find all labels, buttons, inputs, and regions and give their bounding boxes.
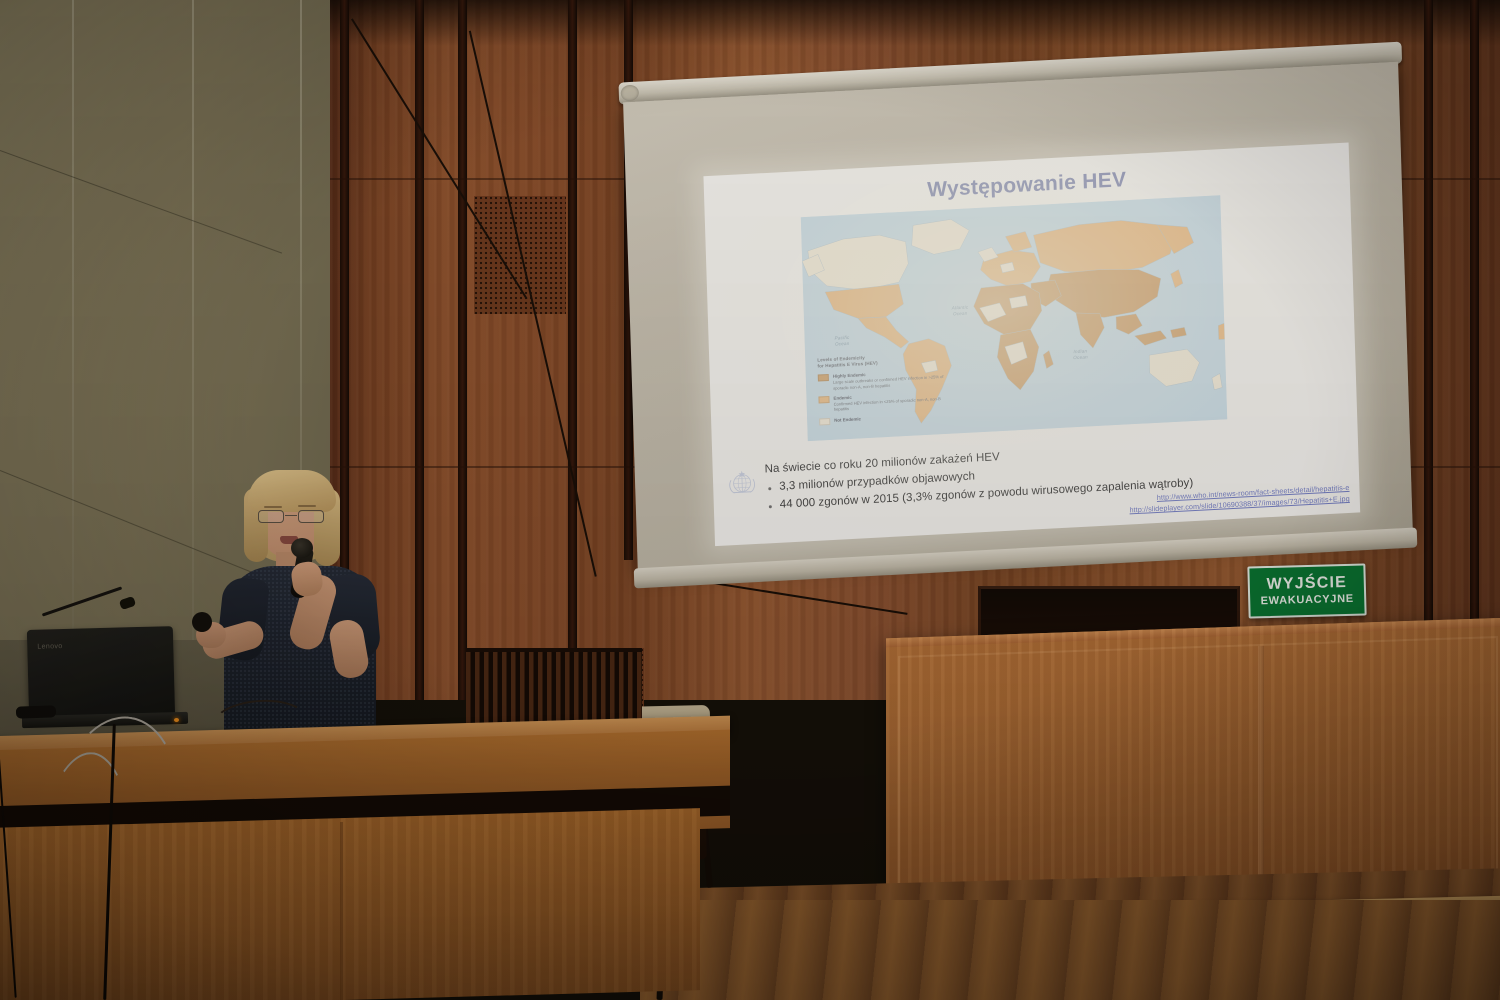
legend-item: Not Endemic bbox=[819, 412, 947, 426]
world-map-endemicity: PacificOcean AtlanticOcean IndianOcean L… bbox=[801, 195, 1227, 441]
ocean-label-pacific: PacificOcean bbox=[835, 335, 850, 347]
presenter-eyebrow-right bbox=[298, 505, 316, 507]
microphone-base bbox=[16, 705, 56, 718]
parquet-floor bbox=[640, 900, 1500, 1000]
wall-trim-strip bbox=[415, 0, 424, 700]
lecture-hall-photo: WYJŚCIE EWAKUACYJNE Występowanie HEV bbox=[0, 0, 1500, 1000]
legend-swatch-highly-endemic bbox=[818, 374, 829, 382]
screen-roller-cap bbox=[621, 85, 639, 102]
presenter-hair-front bbox=[248, 470, 336, 512]
legend-swatch-endemic bbox=[818, 396, 829, 404]
screen-fabric: Występowanie HEV bbox=[623, 62, 1413, 570]
exit-sign-line2: EWAKUACYJNE bbox=[1260, 594, 1354, 607]
laptop-brand-logo: Lenovo bbox=[37, 643, 63, 651]
ocean-label-indian: IndianOcean bbox=[1073, 348, 1088, 360]
legend-item: Endemic Confirmed HEV infection in <25% … bbox=[818, 390, 946, 414]
wall-trim-strip bbox=[568, 0, 577, 700]
front-desk-panel-seam bbox=[340, 822, 343, 1000]
presenter-glasses bbox=[258, 510, 326, 523]
radiator-grille bbox=[466, 648, 642, 728]
projected-slide: Występowanie HEV bbox=[703, 142, 1360, 546]
presenter-remote-clicker[interactable] bbox=[192, 612, 212, 632]
legend-label-not-endemic: Not Endemic bbox=[834, 416, 861, 423]
presenter-eyebrow-left bbox=[264, 506, 282, 508]
legend-swatch-not-endemic bbox=[819, 418, 830, 426]
who-logo-icon bbox=[727, 467, 758, 499]
exit-sign-line1: WYJŚCIE bbox=[1266, 575, 1347, 593]
map-legend: Levels of Endemicity for Hepatitis E Vir… bbox=[817, 351, 947, 431]
counter-divider bbox=[1258, 646, 1264, 904]
handheld-microphone-head bbox=[291, 538, 313, 558]
emergency-exit-sign: WYJŚCIE EWAKUACYJNE bbox=[1247, 563, 1366, 618]
projection-screen: Występowanie HEV bbox=[618, 42, 1417, 595]
ceiling-shadow bbox=[330, 0, 1500, 46]
wall-trim-strip bbox=[1470, 0, 1479, 700]
ocean-label-atlantic: AtlanticOcean bbox=[952, 305, 969, 317]
laptop-power-led bbox=[174, 718, 179, 722]
legend-item: Highly Endemic Large scale outbreaks or … bbox=[818, 368, 946, 392]
wall-trim-strip bbox=[458, 0, 467, 700]
wall-trim-strip bbox=[1424, 0, 1433, 700]
